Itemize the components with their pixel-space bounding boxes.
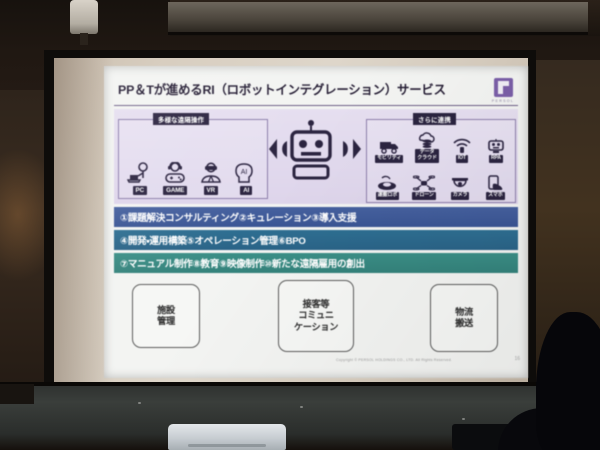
page-number: 16 [514,356,520,362]
application-box-label: 物流 搬送 [455,307,473,330]
double-arrow-right-icon [342,138,362,165]
left-item-pc: PC [127,162,153,195]
right-item-label: RPA [489,155,503,163]
right-item-label: ドローン [412,192,435,200]
application-box-communication: 接客等 コミュニ ケーション [278,280,354,352]
service-bar-2: ④開発・運用構築⑤オペレーション管理⑥BPO [114,230,518,250]
gamepad-headset-icon [162,162,188,184]
right-item-drone: ドローン [412,175,435,200]
screen-mount-bar [168,2,588,35]
svg-text:AI: AI [241,169,248,176]
person-at-laptop-icon [127,162,153,184]
left-item-game: GAME [162,162,188,195]
right-item-label: モビリティ [375,155,403,163]
application-box-label: 接客等 コミュニ ケーション [294,299,338,334]
robot-monitor-icon [485,138,507,154]
floor-speck [462,418,465,420]
vr-headset-person-icon [198,162,224,184]
right-item-label: データ クラウド [415,149,439,162]
slide-title: PP＆Tが進めるRI（ロボットインテグレーション）サービス [118,80,486,98]
right-item-rpa: RPA [485,138,507,163]
right-item-label: カメラ [451,192,470,200]
delivery-van-icon [378,138,400,154]
hand-smartphone-icon [484,175,506,191]
left-item-label: GAME [163,186,187,195]
service-bar-1: ①課題解決コンサルティング②キュレーション③導入支援 [114,207,518,227]
spotlight-fixture [70,0,98,34]
application-box-logistics: 物流 搬送 [430,284,498,352]
application-box-label: 施設 管理 [157,305,175,328]
audience-head-silhouette [536,312,600,450]
spotlight-stem [80,33,88,45]
projected-slide: PP＆Tが進めるRI（ロボットインテグレーション）サービス PERSOL 多様な… [104,66,528,378]
ai-brain-head-icon: AI [233,162,259,184]
right-item-label: IOT [456,155,468,163]
copyright-text: Copyright © PERSOL HOLDINGS CO., LTD. Al… [336,358,452,362]
right-item-label: 運搬ロボ [376,192,400,200]
left-item-vr: VR [198,162,224,195]
right-panel-caption: さらに連携 [413,113,456,125]
transport-robot-icon [376,175,398,191]
conference-room-photo: PP＆Tが進めるRI（ロボットインテグレーション）サービス PERSOL 多様な… [0,0,600,450]
drone-icon [413,175,435,191]
right-item-mobility: モビリティ [375,138,403,163]
floor-object-left [0,384,34,404]
right-item-datacloud: データ クラウド [415,132,439,162]
service-bar-3: ⑦マニュアル制作⑧教育⑨映像制作⑩新たな遠隔雇用の創出 [114,253,518,273]
persol-wordmark: PERSOL [488,99,518,103]
title-divider [114,105,518,106]
left-item-label: PC [133,186,147,195]
persol-logo: PERSOL [488,78,518,103]
right-item-iot: IOT [451,138,473,163]
right-item-camera: カメラ [449,175,471,200]
floor-speck [300,406,303,408]
left-item-ai: AI AI [233,162,259,195]
floor-speck [138,402,141,404]
right-item-transport-robot: 運搬ロボ [376,175,400,200]
application-box-facility: 施設 管理 [132,284,200,348]
security-camera-icon [449,175,471,191]
left-panel: 多様な遠隔操作 PC [118,119,268,199]
right-panel: さらに連携 モビリティ [366,119,516,203]
left-panel-caption: 多様な遠隔操作 [153,113,209,125]
robot-icon [283,118,339,182]
persol-logo-mark [494,78,513,97]
right-item-label: スマホ [486,192,505,200]
cloud-database-icon [416,132,438,148]
wifi-device-icon [451,138,473,154]
presenter-laptop-seam [188,444,266,447]
left-item-label: VR [204,186,218,195]
left-item-label: AI [240,186,252,195]
right-item-smartphone: スマホ [484,175,506,200]
